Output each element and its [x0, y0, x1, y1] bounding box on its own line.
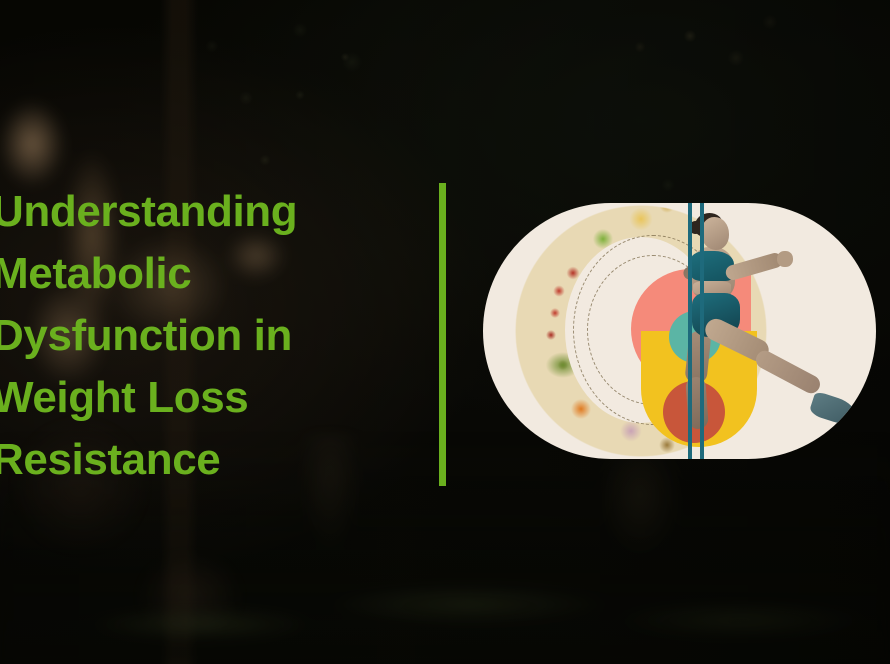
collage-illustration [483, 203, 876, 459]
runner-fist [777, 251, 793, 267]
runner-front-shin [753, 348, 823, 397]
slide-canvas: Understanding Metabolic Dysfunction in W… [0, 0, 890, 664]
vertical-accent-line-left [688, 203, 692, 459]
runner-front-arm [724, 251, 784, 281]
vertical-accent-line-right [700, 203, 704, 459]
vertical-divider [439, 183, 446, 486]
page-title: Understanding Metabolic Dysfunction in W… [0, 181, 432, 491]
illustration-card [483, 203, 876, 459]
runner-head [701, 217, 729, 250]
runner-shoe [808, 391, 857, 427]
